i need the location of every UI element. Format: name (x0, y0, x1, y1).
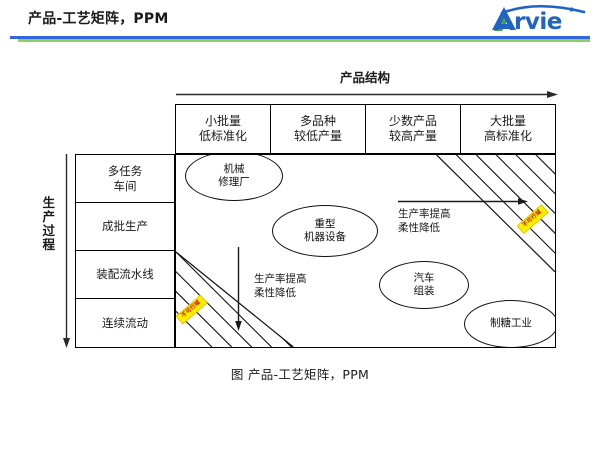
annotation-horizontal-text: 生产率提高 柔性降低 (398, 208, 538, 235)
column-header-line1: 大批量 (490, 114, 526, 129)
annotation-line1: 生产率提高 (254, 273, 307, 287)
column-header-line1: 多品种 (300, 114, 336, 129)
annotation-vertical: 生产率提高 柔性降低 (234, 247, 374, 333)
annotation-arrow-down (234, 247, 243, 331)
node-label-line2: 修理厂 (218, 176, 250, 189)
row-header-line1: 装配流水线 (96, 267, 154, 282)
x-axis-arrow (176, 90, 558, 99)
annotation-line2: 柔性降低 (254, 287, 307, 301)
column-header-multi-variety: 多品种 较低产量 (271, 105, 366, 153)
page-title: 产品-工艺矩阵，PPM (28, 8, 168, 28)
y-axis-arrow (62, 154, 71, 348)
node-label-line2: 组装 (414, 285, 435, 298)
row-header-batch-production: 成批生产 (76, 203, 174, 251)
arvie-logo: rvie (488, 4, 592, 34)
annotation-line1: 生产率提高 (398, 208, 538, 222)
node-label-line2: 机器设备 (304, 231, 346, 244)
node-label-line1: 机械 (224, 163, 245, 176)
row-header-job-shop: 多任务 车间 (76, 155, 174, 203)
node-sugar-industry[interactable]: 制糖工业 (464, 300, 556, 348)
row-header-line1: 成批生产 (102, 219, 148, 234)
node-label-line1: 汽车 (414, 272, 435, 285)
column-header-large-batch: 大批量 高标准化 (461, 105, 555, 153)
header-rule-green (18, 39, 590, 42)
row-header-continuous-flow: 连续流动 (76, 299, 174, 347)
row-header-line2: 车间 (114, 179, 137, 194)
column-header-line2: 高标准化 (484, 129, 532, 144)
row-header-line1: 多任务 (108, 164, 143, 179)
column-header-few-products: 少数产品 较高产量 (366, 105, 461, 153)
annotation-vertical-text: 生产率提高 柔性降低 (254, 273, 307, 300)
node-label-line1: 制糖工业 (490, 317, 532, 330)
column-header-line2: 较低产量 (294, 129, 342, 144)
row-label-column: 多任务 车间 成批生产 装配流水线 连续流动 (75, 154, 175, 348)
figure-caption: 图 产品-工艺矩阵，PPM (0, 364, 600, 383)
node-automobile-assembly[interactable]: 汽车 组装 (379, 261, 469, 309)
x-axis-label: 产品结构 (175, 67, 555, 86)
row-header-line1: 连续流动 (102, 316, 148, 331)
column-header-line2: 低标准化 (199, 129, 247, 144)
column-header-line1: 少数产品 (389, 114, 437, 129)
column-header-row: 小批量 低标准化 多品种 较低产量 少数产品 较高产量 大批量 高标准化 (175, 104, 556, 154)
annotation-line2: 柔性降低 (398, 222, 538, 236)
annotation-arrow-right (398, 197, 528, 206)
annotation-horizontal: 生产率提高 柔性降低 (398, 197, 538, 235)
node-label-line1: 重型 (315, 218, 336, 231)
svg-text:rvie: rvie (514, 9, 562, 34)
matrix-body: 不可行域 不可行域 机械 修理厂 重型 机器设备 汽车 组装 制糖工业 生产率提… (175, 154, 556, 348)
column-header-small-batch: 小批量 低标准化 (176, 105, 271, 153)
row-header-assembly-line: 装配流水线 (76, 251, 174, 299)
y-axis-label: 生产过程 (40, 196, 58, 252)
column-header-line2: 较高产量 (389, 129, 437, 144)
product-process-matrix: 产品结构 小批量 低标准化 多品种 较低产量 少数产品 较高产量 大批量 高标准… (0, 46, 600, 406)
column-header-line1: 小批量 (205, 114, 241, 129)
